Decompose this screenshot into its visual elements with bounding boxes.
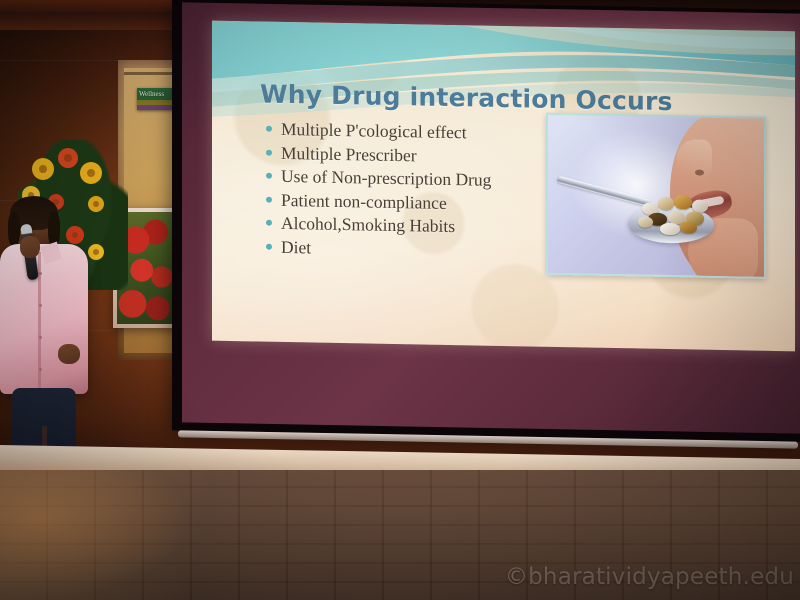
bullet-dot-icon <box>266 220 272 226</box>
shirt-button <box>39 304 42 307</box>
bullet-text: Multiple Prescriber <box>281 141 417 165</box>
floor-light-pool <box>0 466 190 600</box>
bullet-text: Patient non-compliance <box>281 188 447 213</box>
presenter-hand <box>58 344 80 364</box>
pill-icon <box>638 216 653 227</box>
presenter-hair <box>8 212 20 246</box>
bullet-dot-icon <box>266 149 272 155</box>
shirt-button <box>39 368 42 371</box>
photo-nostril <box>695 170 704 176</box>
presenter-hand <box>20 236 40 258</box>
flower-icon <box>58 148 78 168</box>
shirt-button <box>39 336 42 339</box>
flower-icon <box>80 162 102 184</box>
slide-bullet-list: Multiple P'cological effect Multiple Pre… <box>266 118 566 264</box>
bullet-dot-icon <box>266 126 272 132</box>
pill-icon <box>660 223 680 235</box>
photo-nose <box>676 139 712 180</box>
shirt-button <box>39 272 42 275</box>
list-item: Diet <box>266 235 566 262</box>
pill-icon <box>680 221 697 233</box>
watermark: ©bharatividyapeeth.edu <box>505 564 794 590</box>
bullet-dot-icon <box>266 196 272 202</box>
flower-icon <box>32 158 54 180</box>
pill-icon <box>658 197 674 210</box>
bullet-dot-icon <box>266 173 272 179</box>
presentation-photo: Wellness <box>0 0 800 600</box>
bullet-text: Diet <box>281 235 311 258</box>
bullet-dot-icon <box>266 243 272 249</box>
bullet-text: Multiple P'cological effect <box>281 118 467 143</box>
presentation-slide: Why Drug interaction Occurs Multiple P'c… <box>212 21 795 352</box>
presenter-shirt <box>0 244 88 394</box>
slide-photo <box>546 113 766 279</box>
presenter-hair <box>48 212 60 246</box>
pill-icon <box>674 195 692 209</box>
bullet-text: Use of Non-prescription Drug <box>281 165 491 191</box>
bullet-text: Alcohol,Smoking Habits <box>281 212 455 237</box>
